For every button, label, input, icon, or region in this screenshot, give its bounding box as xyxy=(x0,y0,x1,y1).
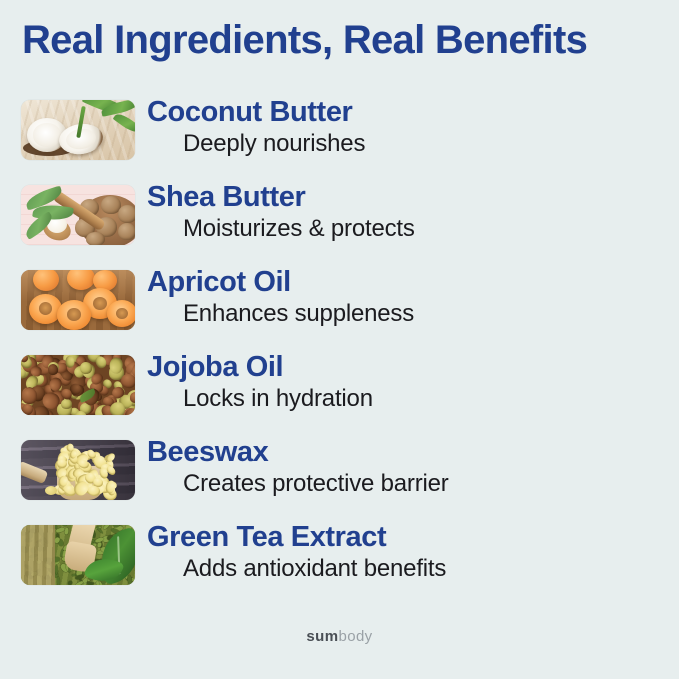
ingredient-name: Beeswax xyxy=(147,436,673,469)
ingredient-benefit: Adds antioxidant benefits xyxy=(183,554,673,584)
tea-leaf-flake xyxy=(68,581,72,585)
ingredient-thumbnail-beeswax xyxy=(21,440,135,500)
brand-name-secondary: body xyxy=(338,628,372,645)
brand-name-primary: sum xyxy=(306,628,338,645)
ingredient-name: Shea Butter xyxy=(147,181,673,214)
ingredient-text-block: Jojoba Oil Locks in hydration xyxy=(147,351,673,414)
list-item: Coconut Butter Deeply nourishes xyxy=(0,96,679,181)
ingredient-benefit: Locks in hydration xyxy=(183,384,673,414)
list-item: Apricot Oil Enhances suppleness xyxy=(0,266,679,351)
jojoba-seed xyxy=(65,355,75,367)
ingredient-name: Jojoba Oil xyxy=(147,351,673,384)
ingredient-text-block: Coconut Butter Deeply nourishes xyxy=(147,96,673,159)
shea-nut xyxy=(118,223,135,240)
jojoba-seed xyxy=(61,399,72,409)
ingredient-name: Green Tea Extract xyxy=(147,521,673,554)
bamboo-mat xyxy=(21,525,55,585)
ingredient-text-block: Apricot Oil Enhances suppleness xyxy=(147,266,673,329)
ingredient-name: Apricot Oil xyxy=(147,266,673,299)
tea-leaf-flake xyxy=(62,525,68,526)
apricot-half xyxy=(57,300,91,330)
ingredient-benefit: Enhances suppleness xyxy=(183,299,673,329)
ingredients-list: Coconut Butter Deeply nourishes xyxy=(0,96,679,606)
shea-nut xyxy=(86,232,105,245)
brand-logo: sumbody xyxy=(0,628,679,645)
jojoba-seed xyxy=(22,388,38,404)
ingredient-text-block: Shea Butter Moisturizes & protects xyxy=(147,181,673,244)
ingredient-thumbnail-jojoba-oil xyxy=(21,355,135,415)
shea-nut xyxy=(118,205,135,223)
list-item: Beeswax Creates protective barrier xyxy=(0,436,679,521)
tea-leaf-flake xyxy=(103,525,110,531)
page-title: Real Ingredients, Real Benefits xyxy=(22,16,662,64)
ingredient-text-block: Green Tea Extract Adds antioxidant benef… xyxy=(147,521,673,584)
tea-leaf-flake xyxy=(57,577,60,585)
jojoba-seed-field xyxy=(21,355,135,415)
ingredient-benefit: Moisturizes & protects xyxy=(183,214,673,244)
apricot-half xyxy=(107,300,135,327)
ingredients-infographic: Real Ingredients, Real Benefits Coconut … xyxy=(0,0,679,679)
ingredient-thumbnail-shea-butter xyxy=(21,185,135,245)
ingredient-thumbnail-green-tea-extract xyxy=(21,525,135,585)
ingredient-name: Coconut Butter xyxy=(147,96,673,129)
beeswax-pellet-pile xyxy=(51,442,111,488)
ingredient-benefit: Creates protective barrier xyxy=(183,469,673,499)
ingredient-text-block: Beeswax Creates protective barrier xyxy=(147,436,673,499)
list-item: Jojoba Oil Locks in hydration xyxy=(0,351,679,436)
beeswax-pellet xyxy=(45,486,57,495)
ingredient-thumbnail-coconut-butter xyxy=(21,100,135,160)
list-item: Shea Butter Moisturizes & protects xyxy=(0,181,679,266)
list-item: Green Tea Extract Adds antioxidant benef… xyxy=(0,521,679,606)
ingredient-benefit: Deeply nourishes xyxy=(183,129,673,159)
ingredient-thumbnail-apricot-oil xyxy=(21,270,135,330)
